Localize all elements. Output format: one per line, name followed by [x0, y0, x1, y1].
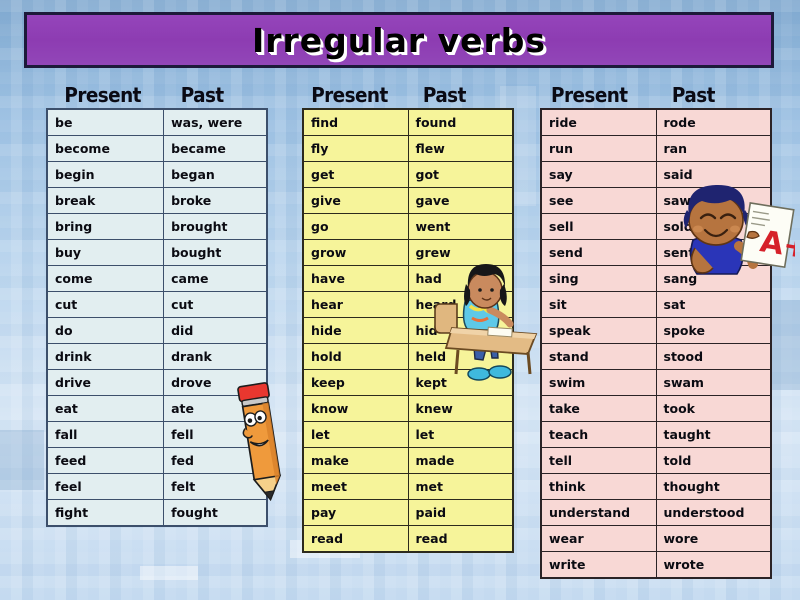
cell-present: see	[541, 188, 656, 214]
table-row[interactable]: standstood	[541, 344, 771, 370]
header-present: Present	[302, 85, 401, 108]
cell-past: taught	[656, 422, 771, 448]
table-row[interactable]: getgot	[303, 162, 513, 188]
cell-present: take	[541, 396, 656, 422]
cell-present: fly	[303, 136, 408, 162]
header-present: Present	[46, 85, 156, 108]
table-row[interactable]: letlet	[303, 422, 513, 448]
cell-present: become	[47, 136, 164, 162]
cell-past: broke	[164, 188, 267, 214]
cell-present: fall	[47, 422, 164, 448]
table-row[interactable]: bewas, were	[47, 109, 267, 136]
table-row[interactable]: cutcut	[47, 292, 267, 318]
cell-past: wrote	[656, 552, 771, 579]
cell-past: got	[408, 162, 513, 188]
header-past: Past	[410, 85, 506, 108]
table-row[interactable]: findfound	[303, 109, 513, 136]
cell-past: met	[408, 474, 513, 500]
background-blotch	[0, 430, 44, 490]
cell-past: took	[656, 396, 771, 422]
cell-present: hold	[303, 344, 408, 370]
cell-present: hide	[303, 318, 408, 344]
table-row[interactable]: taketook	[541, 396, 771, 422]
column-1-headers: Present Past	[46, 78, 268, 108]
table-row[interactable]: drinkdrank	[47, 344, 267, 370]
cell-present: drink	[47, 344, 164, 370]
table-row[interactable]: understandunderstood	[541, 500, 771, 526]
cell-present: meet	[303, 474, 408, 500]
verb-column-3: Present Past riderode runran saysaid see…	[540, 78, 772, 579]
column-2-headers: Present Past	[302, 78, 514, 108]
cell-past: began	[164, 162, 267, 188]
girl-at-desk-character	[432, 262, 540, 392]
cell-present: feel	[47, 474, 164, 500]
cell-past: paid	[408, 500, 513, 526]
cell-present: be	[47, 109, 164, 136]
cell-present: keep	[303, 370, 408, 396]
table-row[interactable]: telltold	[541, 448, 771, 474]
table-row[interactable]: buybought	[47, 240, 267, 266]
table-row[interactable]: teachtaught	[541, 422, 771, 448]
cell-present: have	[303, 266, 408, 292]
cell-present: speak	[541, 318, 656, 344]
cell-present: drive	[47, 370, 164, 396]
column-3-headers: Present Past	[540, 78, 772, 108]
cell-past: ran	[656, 136, 771, 162]
cell-past: knew	[408, 396, 513, 422]
cell-present: stand	[541, 344, 656, 370]
cell-present: feed	[47, 448, 164, 474]
cell-present: read	[303, 526, 408, 553]
cell-present: sell	[541, 214, 656, 240]
cell-past: thought	[656, 474, 771, 500]
cell-present: do	[47, 318, 164, 344]
cell-present: think	[541, 474, 656, 500]
title-banner: Irregular verbs	[24, 12, 774, 68]
cell-past: went	[408, 214, 513, 240]
cell-past: understood	[656, 500, 771, 526]
cell-past: told	[656, 448, 771, 474]
header-present: Present	[540, 85, 640, 108]
cell-present: understand	[541, 500, 656, 526]
header-past: Past	[648, 85, 762, 108]
cell-present: know	[303, 396, 408, 422]
cell-present: come	[47, 266, 164, 292]
table-row[interactable]: makemade	[303, 448, 513, 474]
cell-present: teach	[541, 422, 656, 448]
cell-present: make	[303, 448, 408, 474]
table-row[interactable]: sitsat	[541, 292, 771, 318]
cell-present: let	[303, 422, 408, 448]
cell-past: bought	[164, 240, 267, 266]
cell-present: hear	[303, 292, 408, 318]
cell-present: go	[303, 214, 408, 240]
cell-past: brought	[164, 214, 267, 240]
table-row[interactable]: breakbroke	[47, 188, 267, 214]
cell-past: came	[164, 266, 267, 292]
table-row[interactable]: paypaid	[303, 500, 513, 526]
table-row[interactable]: wearwore	[541, 526, 771, 552]
cell-past: made	[408, 448, 513, 474]
table-row[interactable]: meetmet	[303, 474, 513, 500]
cell-present: break	[47, 188, 164, 214]
cell-past: wore	[656, 526, 771, 552]
table-row[interactable]: comecame	[47, 266, 267, 292]
table-row[interactable]: readread	[303, 526, 513, 553]
irregular-verbs-poster: Irregular verbs Present Past bewas, were…	[0, 0, 800, 600]
cell-past: rode	[656, 109, 771, 136]
cell-past: was, were	[164, 109, 267, 136]
cell-past: swam	[656, 370, 771, 396]
table-row[interactable]: swimswam	[541, 370, 771, 396]
cell-present: eat	[47, 396, 164, 422]
cell-present: cut	[47, 292, 164, 318]
table-row[interactable]: givegave	[303, 188, 513, 214]
table-row[interactable]: bringbrought	[47, 214, 267, 240]
background-blotch	[140, 566, 198, 580]
cell-past: became	[164, 136, 267, 162]
cell-present: pay	[303, 500, 408, 526]
cell-past: sat	[656, 292, 771, 318]
cell-present: begin	[47, 162, 164, 188]
table-row[interactable]: speakspoke	[541, 318, 771, 344]
cell-present: buy	[47, 240, 164, 266]
table-row[interactable]: becomebecame	[47, 136, 267, 162]
cell-present: swim	[541, 370, 656, 396]
table-row[interactable]: riderode	[541, 109, 771, 136]
cell-past: flew	[408, 136, 513, 162]
table-row[interactable]: knowknew	[303, 396, 513, 422]
cell-present: get	[303, 162, 408, 188]
cell-present: send	[541, 240, 656, 266]
cell-present: grow	[303, 240, 408, 266]
cell-past: drank	[164, 344, 267, 370]
cell-present: find	[303, 109, 408, 136]
cell-past: gave	[408, 188, 513, 214]
cell-present: wear	[541, 526, 656, 552]
cell-past: did	[164, 318, 267, 344]
cell-past: stood	[656, 344, 771, 370]
header-past: Past	[166, 85, 260, 108]
table-row[interactable]: flyflew	[303, 136, 513, 162]
pencil-character	[232, 382, 294, 522]
cell-present: fight	[47, 500, 164, 527]
cell-past: found	[408, 109, 513, 136]
cell-present: say	[541, 162, 656, 188]
table-row[interactable]: gowent	[303, 214, 513, 240]
cell-present: tell	[541, 448, 656, 474]
cell-present: ride	[541, 109, 656, 136]
table-row[interactable]: writewrote	[541, 552, 771, 579]
cell-present: sit	[541, 292, 656, 318]
cell-past: read	[408, 526, 513, 553]
cell-present: run	[541, 136, 656, 162]
page-title: Irregular verbs	[252, 21, 546, 60]
table-row[interactable]: runran	[541, 136, 771, 162]
table-row[interactable]: dodid	[47, 318, 267, 344]
table-row[interactable]: thinkthought	[541, 474, 771, 500]
cell-past: spoke	[656, 318, 771, 344]
cell-past: let	[408, 422, 513, 448]
cell-present: write	[541, 552, 656, 579]
cell-present: give	[303, 188, 408, 214]
cell-present: sing	[541, 266, 656, 292]
table-row[interactable]: beginbegan	[47, 162, 267, 188]
boy-with-graded-paper-character: A+	[663, 176, 795, 288]
cell-present: bring	[47, 214, 164, 240]
cell-past: cut	[164, 292, 267, 318]
